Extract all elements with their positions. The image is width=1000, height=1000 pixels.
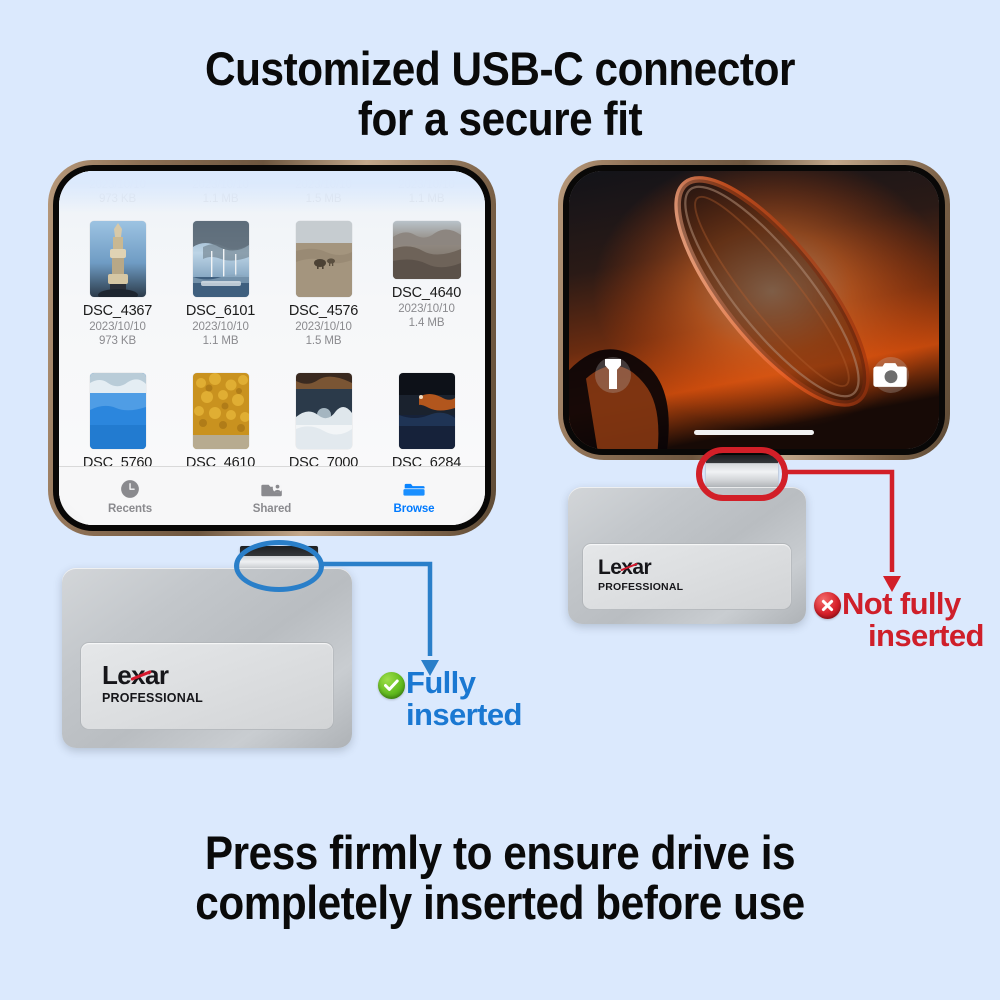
file-name: DSC_4576 (289, 303, 358, 319)
file-name: DSC_4640 (392, 285, 461, 301)
file-thumbnail-minaret[interactable] (90, 221, 146, 297)
fully-inserted-label: Fully inserted (406, 667, 522, 731)
file-grid-row-2: DSC_5760 (59, 367, 485, 471)
file-date: 2023/10/10 (295, 321, 352, 333)
tab-recents[interactable]: Recents (59, 478, 201, 515)
file-item[interactable]: DSC_4576 2023/10/10 1.5 MB (273, 215, 374, 347)
not-fully-inserted-line-2: inserted (842, 620, 984, 652)
footline-line-2: completely inserted before use (50, 878, 950, 928)
file-item[interactable]: DSC_5760 (67, 367, 168, 471)
clock-icon (117, 478, 143, 500)
fully-inserted-line-2: inserted (406, 697, 522, 732)
file-thumbnail-sailboat[interactable] (193, 221, 249, 297)
files-app: 2023/10/10 973 KB 2023/10/10 1.1 MB 2023… (59, 171, 485, 525)
footline-line-1: Press firmly to ensure drive is (50, 828, 950, 878)
file-size: 1.1 MB (203, 335, 239, 347)
file-cell-faded: 2023/10/10 1.1 MB (170, 171, 271, 205)
file-thumbnail-foliage[interactable] (193, 373, 249, 449)
fully-inserted-highlight-ellipse (234, 540, 324, 592)
file-cell-faded: 2023/10/10 1.1 MB (376, 171, 477, 205)
tab-shared[interactable]: Shared (201, 478, 343, 515)
file-thumbnail-desert[interactable] (296, 221, 352, 297)
file-grid-faded-row: 2023/10/10 973 KB 2023/10/10 1.1 MB 2023… (59, 171, 485, 205)
poster-canvas: Customized USB-C connector for a secure … (0, 0, 1000, 1000)
file-item[interactable]: DSC_6101 2023/10/10 1.1 MB (170, 215, 271, 347)
lexar-professional-text: PROFESSIONAL (598, 581, 683, 593)
file-date: 2023/10/10 (192, 321, 249, 333)
file-size: 1.1 MB (203, 193, 239, 205)
tab-browse[interactable]: Browse (343, 478, 485, 515)
file-size: 1.5 MB (306, 335, 342, 347)
lock-screen (569, 171, 939, 449)
file-date: 2023/10/10 (398, 179, 455, 191)
headline-line-1: Customized USB-C connector (50, 44, 950, 94)
tab-label: Shared (253, 503, 291, 515)
not-fully-inserted-line-1: Not fully (842, 586, 961, 621)
file-size: 1.1 MB (409, 193, 445, 205)
left-phone: 2023/10/10 973 KB 2023/10/10 1.1 MB 2023… (48, 160, 496, 536)
file-size: 973 KB (99, 335, 136, 347)
file-name: DSC_6101 (186, 303, 255, 319)
lexar-professional-text: PROFESSIONAL (102, 691, 203, 705)
file-item[interactable]: DSC_6284 (376, 367, 477, 471)
file-cell-faded: 2023/10/10 1.5 MB (273, 171, 374, 205)
file-thumbnail-night-mountain[interactable] (296, 373, 352, 449)
tab-label: Browse (394, 503, 435, 515)
lock-screen-wallpaper (569, 171, 939, 449)
phone-screen-right (569, 171, 939, 449)
file-size: 1.5 MB (306, 193, 342, 205)
file-cell-faded: 2023/10/10 973 KB (67, 171, 168, 205)
lexar-logo: Lexar PROFESSIONAL (102, 662, 203, 705)
page-title: Customized USB-C connector for a secure … (50, 44, 950, 144)
not-fully-inserted-label: Not fully inserted (842, 588, 984, 652)
camera-icon (873, 357, 909, 393)
folder-icon (401, 478, 427, 500)
file-item[interactable]: DSC_4367 2023/10/10 973 KB (67, 215, 168, 347)
lexar-ssd-left: Lexar PROFESSIONAL (62, 568, 352, 748)
fully-inserted-callout-line (318, 556, 458, 682)
file-size: 973 KB (99, 193, 136, 205)
not-fully-inserted-callout-line (784, 464, 920, 598)
file-thumbnail-dark-coast[interactable] (399, 373, 455, 449)
home-indicator[interactable] (694, 430, 814, 435)
tab-label: Recents (108, 503, 152, 515)
right-phone (558, 160, 950, 460)
camera-button[interactable] (873, 357, 909, 393)
flashlight-icon (595, 357, 631, 393)
file-thumbnail-canyon[interactable] (393, 221, 461, 279)
fully-inserted-line-1: Fully (406, 665, 475, 700)
check-badge-icon (378, 672, 405, 699)
shared-folder-icon (259, 478, 285, 500)
phone-screen-left: 2023/10/10 973 KB 2023/10/10 1.1 MB 2023… (59, 171, 485, 525)
file-name: DSC_4367 (83, 303, 152, 319)
x-badge-icon (814, 592, 841, 619)
footer-instruction: Press firmly to ensure drive is complete… (50, 828, 950, 928)
file-date: 2023/10/10 (295, 179, 352, 191)
file-grid-row-1: DSC_4367 2023/10/10 973 KB (59, 215, 485, 347)
files-tab-bar: Recents Shared (59, 466, 485, 525)
file-item[interactable]: DSC_4610 (170, 367, 271, 471)
headline-line-2: for a secure fit (50, 94, 950, 144)
file-item[interactable]: DSC_4640 2023/10/10 1.4 MB (376, 215, 477, 347)
file-date: 2023/10/10 (89, 321, 146, 333)
not-fully-inserted-highlight-ellipse (696, 447, 788, 501)
x-glyph (821, 599, 834, 612)
lexar-logo: Lexar PROFESSIONAL (598, 557, 683, 593)
file-date: 2023/10/10 (89, 179, 146, 191)
file-thumbnail-snow-lake[interactable] (90, 373, 146, 449)
file-date: 2023/10/10 (192, 179, 249, 191)
file-date: 2023/10/10 (398, 303, 455, 315)
check-glyph (384, 679, 399, 692)
lexar-ssd-right: Lexar PROFESSIONAL (568, 487, 806, 624)
file-size: 1.4 MB (409, 317, 445, 329)
file-item[interactable]: DSC_7000 (273, 367, 374, 471)
flashlight-button[interactable] (595, 357, 631, 393)
